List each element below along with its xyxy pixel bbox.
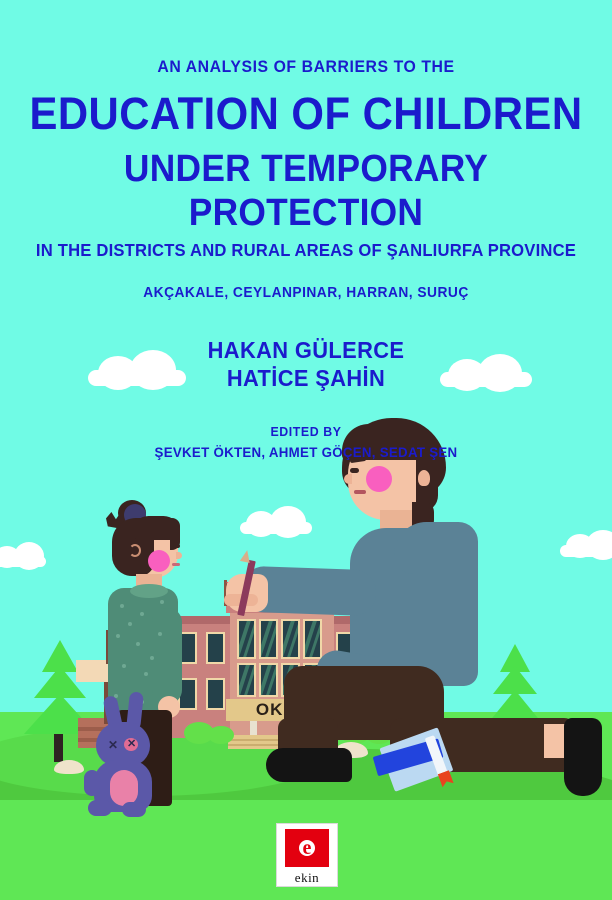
publisher-logo-letter: e bbox=[299, 840, 315, 856]
girl-arm bbox=[152, 608, 182, 704]
bunny-belly bbox=[110, 770, 138, 806]
title-main-2: UNDER TEMPORARY PROTECTION bbox=[21, 147, 590, 235]
publisher-logo: e ekin bbox=[276, 823, 338, 887]
title-pretext: AN ANALYSIS OF BARRIERS TO THE bbox=[21, 57, 590, 77]
rock bbox=[54, 760, 84, 774]
bunny-eye-x: ✕ bbox=[108, 740, 118, 750]
bush bbox=[208, 726, 234, 744]
man-eye bbox=[350, 468, 359, 473]
districts-list: AKÇAKALE, CEYLANPINAR, HARRAN, SURUÇ bbox=[15, 283, 596, 303]
school-window bbox=[303, 619, 322, 659]
man-shoe-back bbox=[564, 718, 602, 796]
girl-eye bbox=[172, 544, 180, 548]
girl-blush bbox=[148, 550, 170, 572]
author-name-1: HAKAN GÜLERCE bbox=[15, 336, 596, 364]
school-window bbox=[259, 663, 278, 697]
school-window bbox=[206, 678, 225, 710]
school-window bbox=[237, 619, 256, 659]
edited-by-label: EDITED BY bbox=[15, 423, 596, 440]
bunny-eye-x: ✕ bbox=[127, 739, 136, 749]
bunny-foot bbox=[88, 800, 112, 816]
girl-sweater-collar bbox=[130, 584, 168, 598]
bunny-foot bbox=[122, 802, 146, 817]
man-ear bbox=[418, 470, 430, 486]
school-window bbox=[206, 632, 225, 664]
cloud-mid-left bbox=[0, 556, 46, 567]
publisher-logo-mark: e bbox=[285, 829, 329, 867]
cloud-far-right bbox=[560, 545, 612, 557]
man-shoe-front bbox=[266, 748, 352, 782]
cover-text-block: AN ANALYSIS OF BARRIERS TO THE EDUCATION… bbox=[0, 0, 612, 462]
school-window bbox=[237, 663, 256, 697]
book-cover: OKUL bbox=[0, 0, 612, 900]
title-subtitle: IN THE DISTRICTS AND RURAL AREAS OF ŞANL… bbox=[15, 239, 596, 261]
man-mouth bbox=[354, 490, 366, 494]
girl-ear bbox=[129, 544, 141, 557]
school-window bbox=[281, 619, 300, 659]
editors-list: ŞEVKET ÖKTEN, AHMET GÖÇEN, SEDAT ŞEN bbox=[15, 443, 596, 462]
cloud-center bbox=[240, 522, 312, 534]
girl-mouth bbox=[172, 563, 180, 566]
title-main-1: EDUCATION OF CHILDREN bbox=[21, 89, 590, 139]
publisher-name: ekin bbox=[295, 870, 319, 886]
man-blush bbox=[366, 466, 392, 492]
man-nose bbox=[344, 474, 352, 484]
bunny-arm bbox=[84, 770, 100, 796]
author-name-2: HATİCE ŞAHİN bbox=[15, 364, 596, 392]
school-window bbox=[259, 619, 278, 659]
man-shoulder bbox=[394, 522, 478, 574]
